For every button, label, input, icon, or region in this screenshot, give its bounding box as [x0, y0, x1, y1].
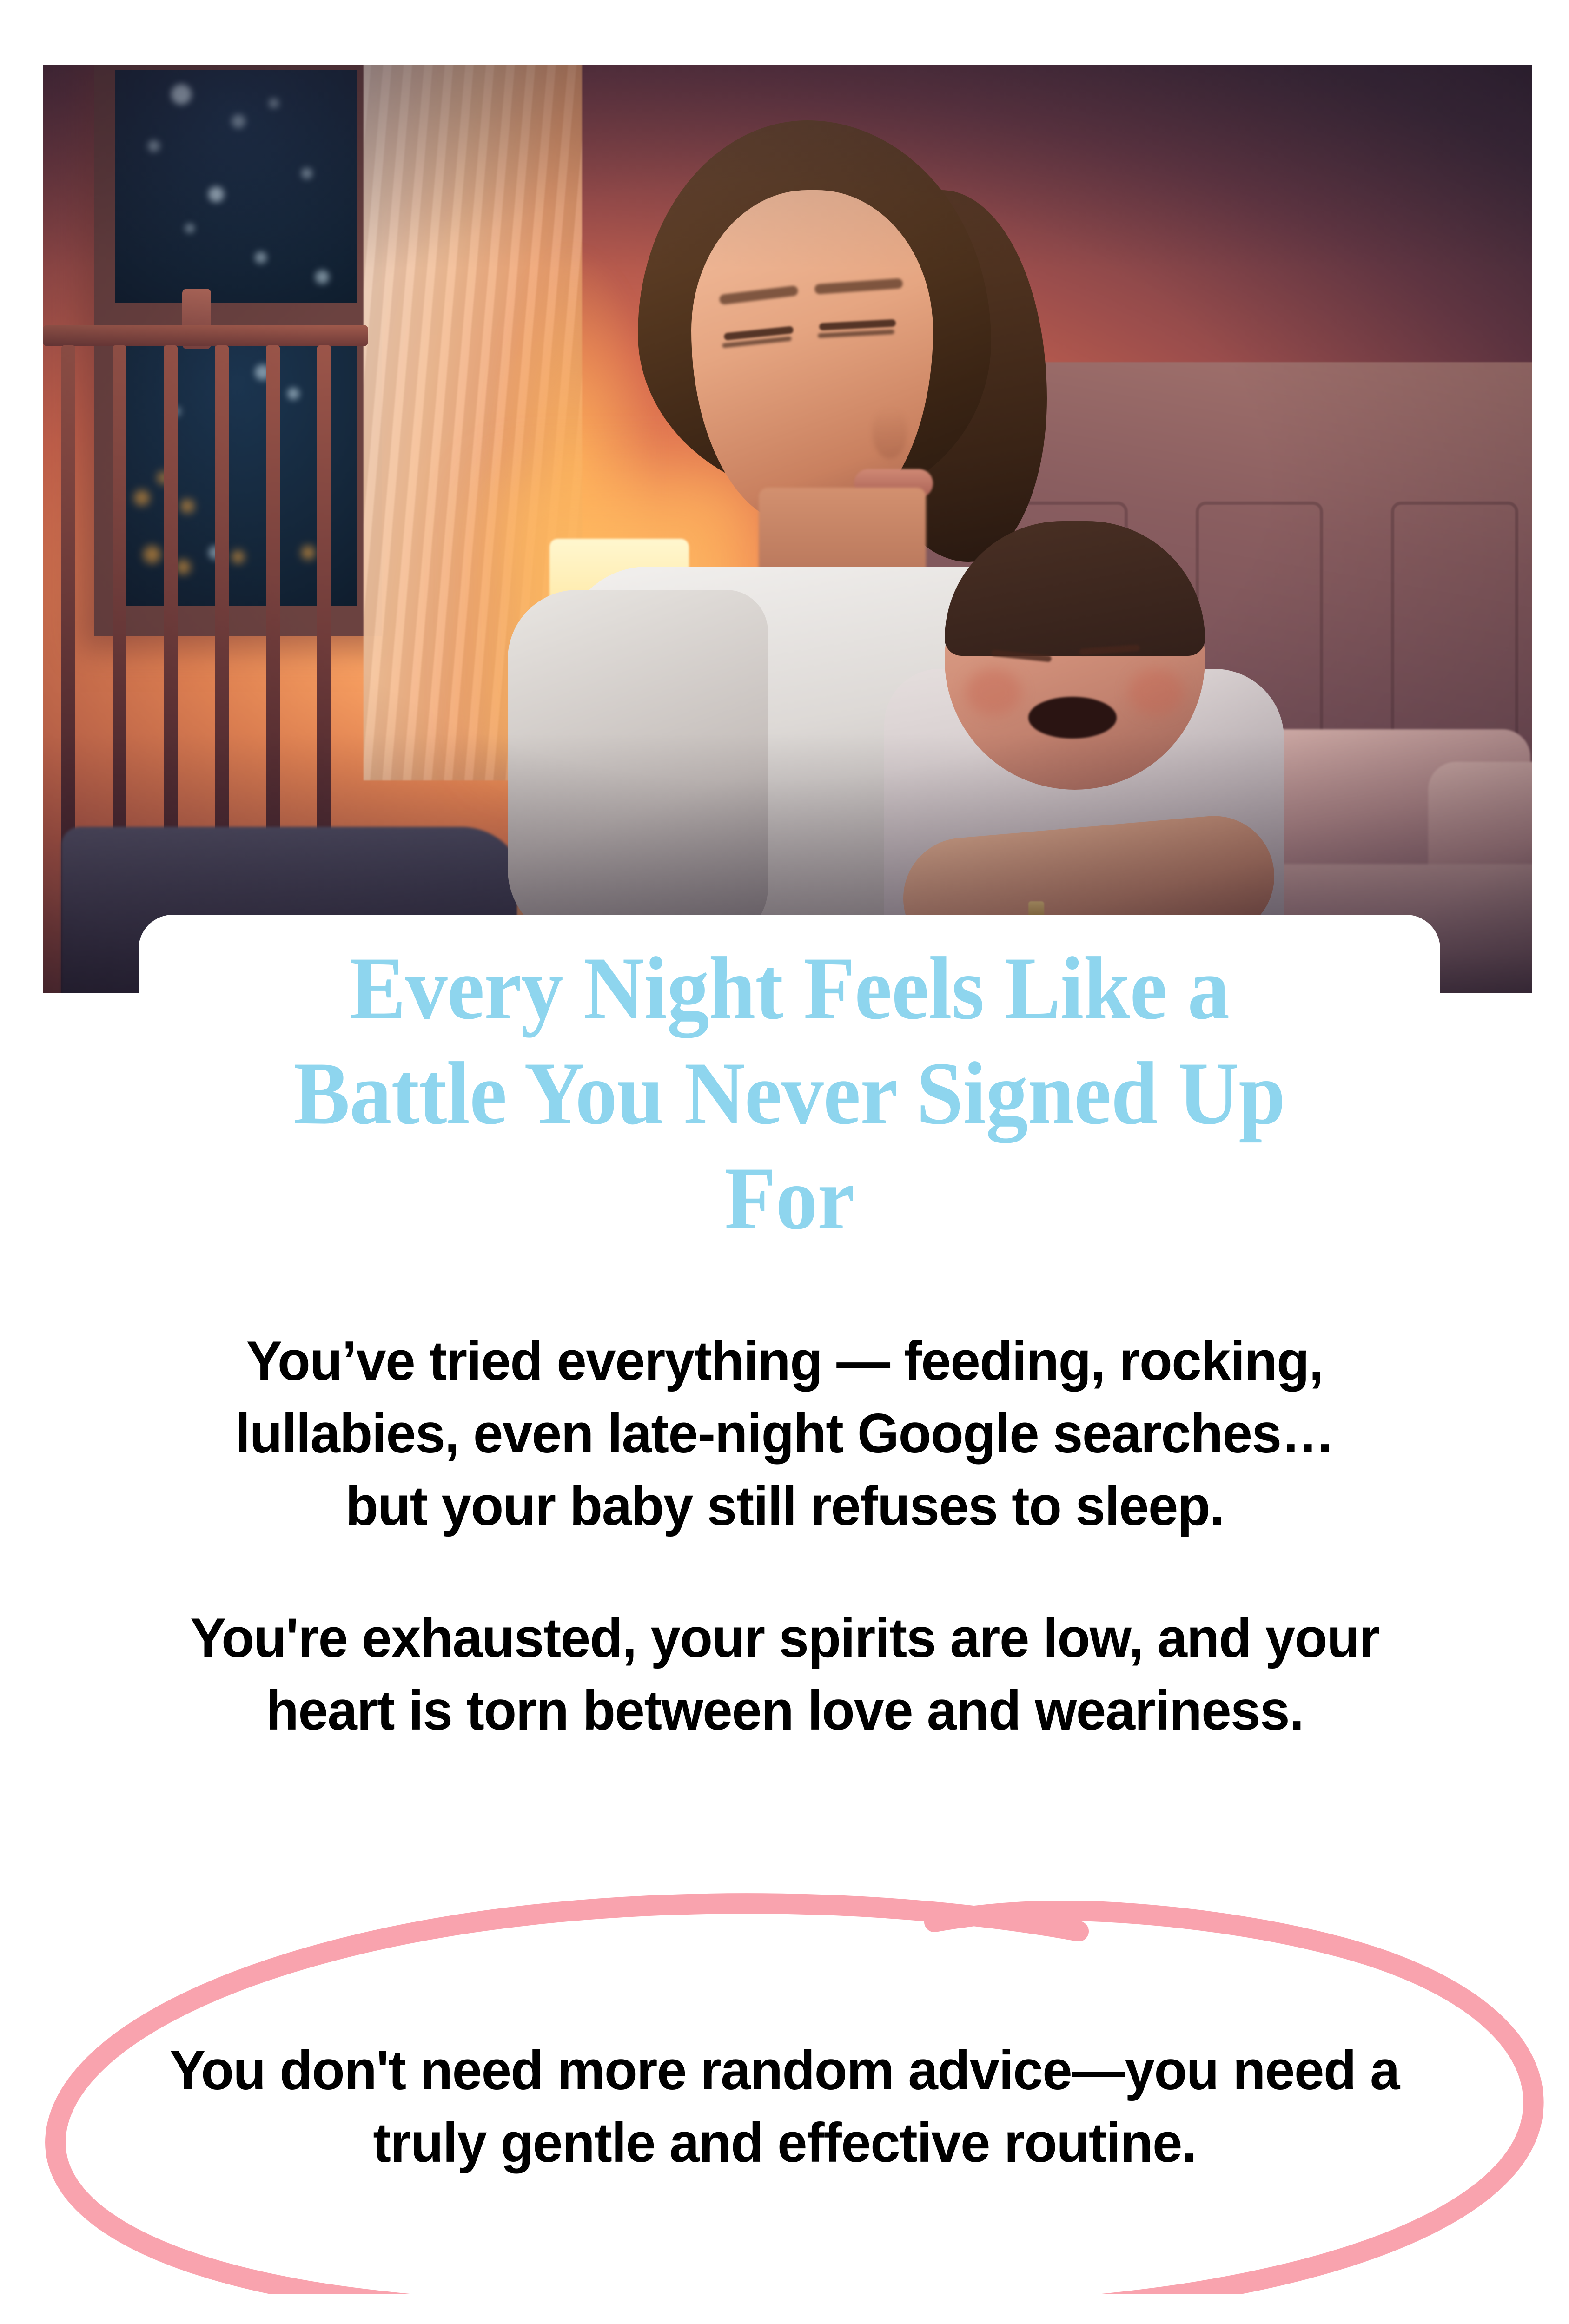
paragraph-one: You’ve tried everything — feeding, rocki…: [120, 1325, 1448, 1542]
headline-card: Every Night Feels Like a Battle You Neve…: [139, 915, 1440, 1265]
photo-vignette: [43, 65, 1532, 993]
circled-callout: You don't need more random advice—you ne…: [0, 1920, 1569, 2324]
callout-text: You don't need more random advice—you ne…: [27, 2034, 1542, 2179]
bedroom-scene: [43, 65, 1532, 993]
landing-page: Every Night Feels Like a Battle You Neve…: [0, 0, 1569, 2324]
paragraph-two: You're exhausted, your spirits are low, …: [120, 1602, 1448, 1747]
hero-photo: [43, 65, 1532, 993]
body-copy: You’ve tried everything — feeding, rocki…: [0, 1325, 1569, 1747]
page-title: Every Night Feels Like a Battle You Neve…: [208, 936, 1370, 1251]
